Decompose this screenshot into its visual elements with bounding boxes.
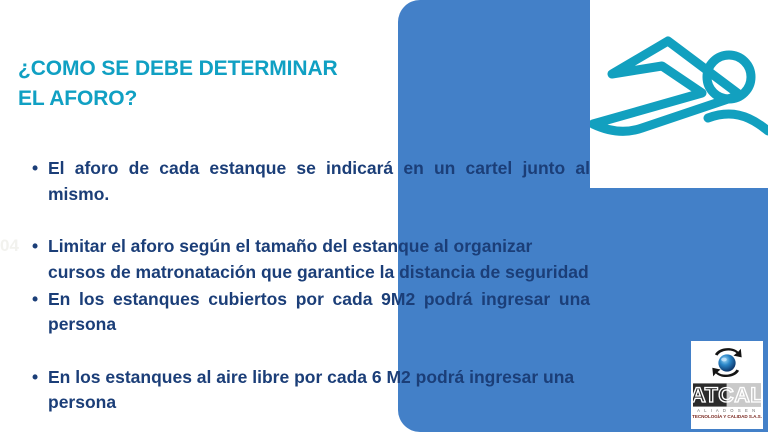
list-item: • En los estanques cubiertos por cada 9M… [30, 287, 590, 364]
atcal-wordmark: ATCAL [693, 383, 761, 407]
svg-text:ATCAL: ATCAL [693, 383, 761, 407]
list-item-text: Limitar el aforo según el tamaño del est… [48, 234, 590, 285]
slide-canvas: 04 ¿COMO SE DEBE DETERMINAR EL AFORO? • … [0, 0, 768, 432]
slide-number-watermark: 04 [0, 236, 19, 256]
list-item-text: El aforo de cada estanque se indicará en… [48, 156, 590, 233]
list-item-text: En los estanques al aire libre por cada … [48, 365, 590, 416]
logo-tagline-bottom: TECNOLOGÍA Y CALIDAD S.A.S. [692, 414, 762, 419]
page-title-line-1: ¿COMO SE DEBE DETERMINAR [18, 54, 398, 84]
bullet-dot-icon: • [32, 287, 38, 313]
bullet-list: • El aforo de cada estanque se indicará … [30, 156, 590, 417]
list-item: • En los estanques al aire libre por cad… [30, 365, 590, 416]
bullet-dot-icon: • [32, 156, 38, 182]
bullet-dot-icon: • [32, 234, 38, 260]
logo-tagline-top: A L I A D O S E N [697, 408, 757, 413]
page-title: ¿COMO SE DEBE DETERMINAR EL AFORO? [18, 54, 398, 114]
swimmer-icon [590, 0, 768, 188]
list-item: • El aforo de cada estanque se indicará … [30, 156, 590, 233]
list-item: • Limitar el aforo según el tamaño del e… [30, 234, 590, 285]
bullet-dot-icon: • [32, 365, 38, 391]
list-item-text: En los estanques cubiertos por cada 9M2 … [48, 287, 590, 364]
page-title-line-2: EL AFORO? [18, 84, 398, 114]
atcal-logo: ATCAL A L I A D O S E N TECNOLOGÍA Y CAL… [691, 341, 763, 429]
globe-arrows-icon [705, 344, 749, 382]
